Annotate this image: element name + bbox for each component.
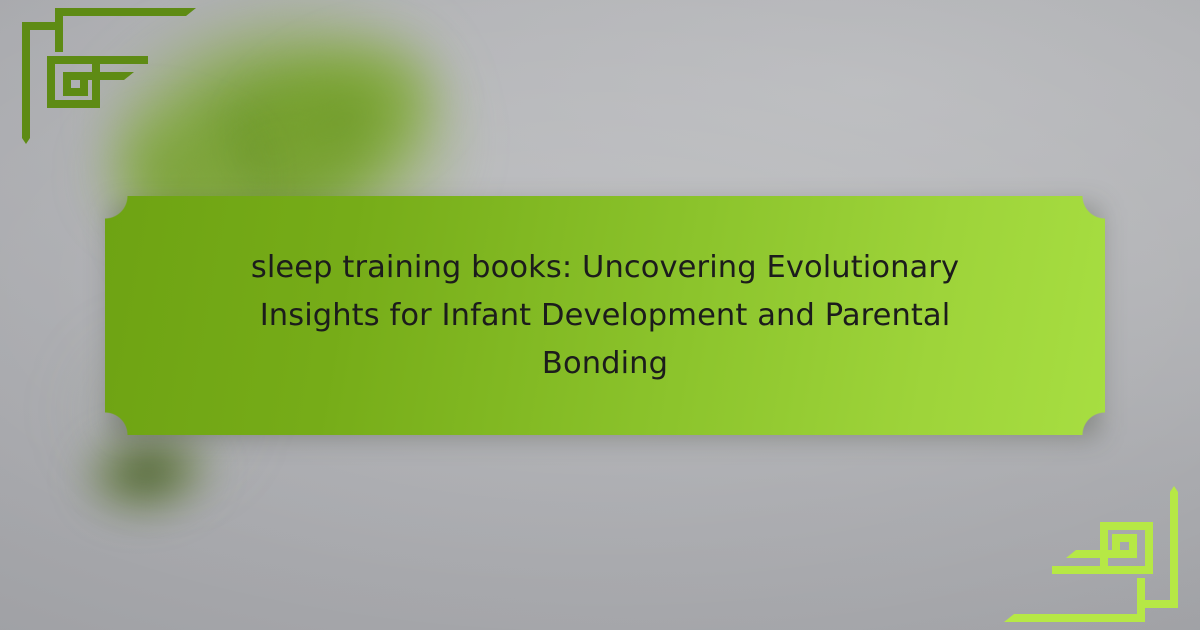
corner-ornament-bottom-right-icon [1000,430,1200,630]
corner-ornament-top-left-icon [0,0,200,200]
page-title: sleep training books: Uncovering Evoluti… [121,244,1089,388]
title-card: sleep training books: Uncovering Evoluti… [105,196,1105,435]
title-card-surface: sleep training books: Uncovering Evoluti… [105,196,1105,435]
share-card-canvas: sleep training books: Uncovering Evoluti… [0,0,1200,630]
